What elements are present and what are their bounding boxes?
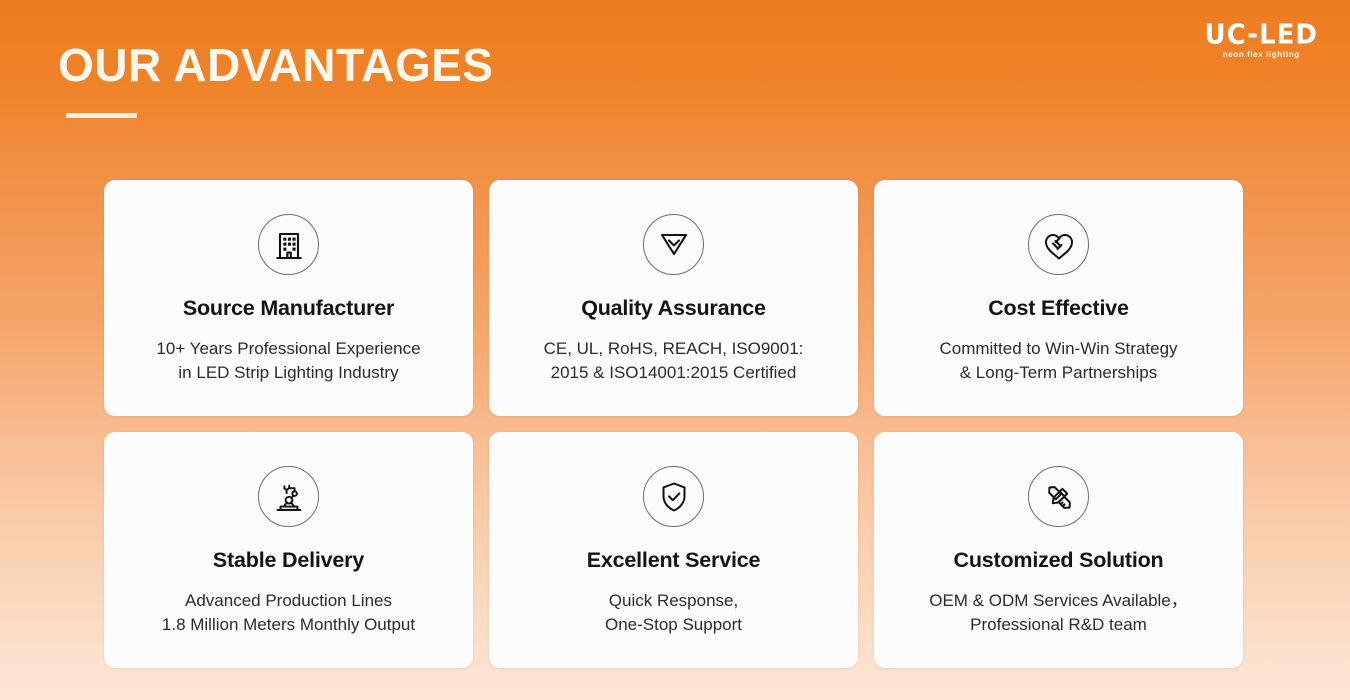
advantage-card-quality-assurance[interactable]: Quality Assurance CE, UL, RoHS, REACH, I…: [489, 180, 858, 416]
card-description: CE, UL, RoHS, REACH, ISO9001: 2015 & ISO…: [544, 337, 804, 385]
card-title: Cost Effective: [988, 297, 1129, 321]
diamond-icon: [643, 214, 704, 275]
advantage-card-source-manufacturer[interactable]: Source Manufacturer 10+ Years Profession…: [104, 180, 473, 416]
advantage-card-customized-solution[interactable]: Customized Solution OEM & ODM Services A…: [874, 432, 1243, 668]
advantage-card-cost-effective[interactable]: Cost Effective Committed to Win-Win Stra…: [874, 180, 1243, 416]
handshake-heart-icon: [1028, 214, 1089, 275]
card-description: Quick Response, One-Stop Support: [605, 589, 742, 637]
title-underline-rule: [66, 113, 137, 118]
advantage-card-excellent-service[interactable]: Excellent Service Quick Response, One-St…: [489, 432, 858, 668]
advantages-grid: Source Manufacturer 10+ Years Profession…: [104, 180, 1244, 668]
card-title: Quality Assurance: [581, 297, 766, 321]
card-description: OEM & ODM Services Available， Profession…: [929, 589, 1188, 637]
advantage-card-stable-delivery[interactable]: Stable Delivery Advanced Production Line…: [104, 432, 473, 668]
shield-check-icon: [643, 466, 704, 527]
brand-logo: UC-LED neon flex lighting: [1205, 22, 1319, 59]
card-title: Source Manufacturer: [183, 297, 394, 321]
logo-wordmark: UC-LED: [1205, 21, 1319, 48]
card-title: Stable Delivery: [213, 549, 364, 573]
card-title: Customized Solution: [954, 549, 1164, 573]
page-title: OUR ADVANTAGES: [58, 42, 494, 88]
pencil-ruler-icon: [1028, 466, 1089, 527]
card-description: Committed to Win-Win Strategy & Long-Ter…: [939, 337, 1177, 385]
card-title: Excellent Service: [587, 549, 761, 573]
page-header: OUR ADVANTAGES UC-LED neon flex lighting: [0, 0, 1350, 170]
card-description: 10+ Years Professional Experience in LED…: [156, 337, 420, 385]
logo-tagline: neon flex lighting: [1205, 51, 1319, 59]
robot-arm-icon: [258, 466, 319, 527]
card-description: Advanced Production Lines 1.8 Million Me…: [162, 589, 415, 637]
building-icon: [258, 214, 319, 275]
